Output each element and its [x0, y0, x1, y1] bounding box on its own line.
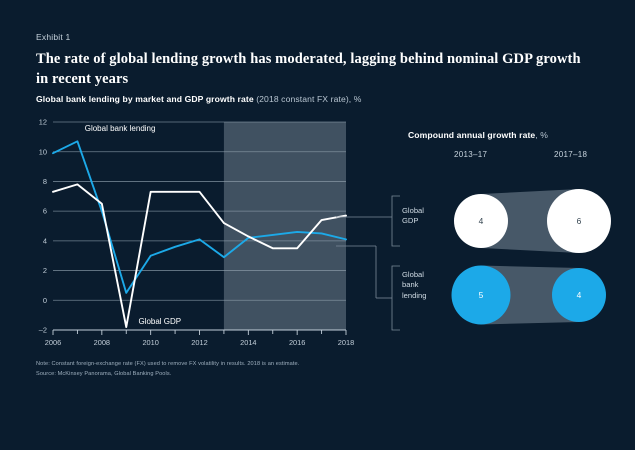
row-label-line: Global: [402, 270, 427, 280]
panel-column-header-2013-17: 2013–17: [454, 150, 487, 159]
row-label-line: lending: [402, 291, 427, 301]
row-label-line: GDP: [402, 216, 424, 226]
chart-x-axis: 2006200820102012201420162018: [45, 330, 354, 347]
bubble-value-1-1: 4: [577, 290, 582, 300]
footnote-source: Source: McKinsey Panorama, Global Bankin…: [36, 370, 456, 380]
bubble-value-1-0: 5: [479, 290, 484, 300]
x-tick-label: 2012: [191, 338, 207, 347]
chart-annotation-1: Global GDP: [138, 317, 181, 326]
exhibit-subhead: Global bank lending by market and GDP gr…: [36, 94, 596, 104]
y-tick-label: 12: [39, 118, 47, 127]
chart-annotation-0: Global bank lending: [85, 124, 156, 133]
exhibit-canvas: Exhibit 1 The rate of global lending gro…: [0, 0, 635, 450]
panel-column-header-2017-18: 2017–18: [554, 150, 587, 159]
y-tick-label: 8: [43, 177, 47, 186]
subhead-bold-text: Global bank lending by market and GDP gr…: [36, 94, 254, 104]
chart-y-axis: –2024681012: [39, 118, 47, 335]
x-tick-label: 2010: [142, 338, 158, 347]
bubble-value-0-0: 4: [479, 216, 484, 226]
y-tick-label: 10: [39, 147, 47, 156]
chart-footnotes: Note: Constant foreign-exchange rate (FX…: [36, 360, 456, 380]
bubble-value-0-1: 6: [577, 216, 582, 226]
cagr-panel: 4654 Compound annual growth rate, % 2013…: [336, 118, 635, 338]
panel-title: Compound annual growth rate, %: [408, 130, 548, 140]
y-tick-label: –2: [39, 326, 47, 335]
panel-title-light: , %: [535, 130, 548, 140]
panel-row-label-global-gdp: GlobalGDP: [402, 206, 424, 227]
row-bracket-1: [392, 266, 400, 330]
y-tick-label: 4: [43, 236, 47, 245]
x-tick-label: 2018: [338, 338, 354, 347]
y-tick-label: 6: [43, 207, 47, 216]
exhibit-headline: The rate of global lending growth has mo…: [36, 50, 596, 89]
panel-title-bold: Compound annual growth rate: [408, 130, 535, 140]
exhibit-kicker: Exhibit 1: [36, 32, 70, 42]
footnote-note: Note: Constant foreign-exchange rate (FX…: [36, 360, 456, 370]
y-tick-label: 0: [43, 296, 47, 305]
row-label-line: bank: [402, 280, 427, 290]
chart-annotations: Global bank lendingGlobal GDP: [85, 124, 181, 326]
panel-connectors: [336, 196, 400, 330]
line-chart: –2024681012 2006200820102012201420162018…: [26, 112, 371, 357]
y-tick-label: 2: [43, 266, 47, 275]
row-label-line: Global: [402, 206, 424, 216]
chart-highlight-band: [224, 122, 346, 330]
x-tick-label: 2014: [240, 338, 256, 347]
line-chart-svg: –2024681012 2006200820102012201420162018…: [26, 112, 371, 357]
panel-row-label-global-bank-lending: Globalbanklending: [402, 270, 427, 301]
highlight-band-rect: [224, 122, 346, 330]
row-bracket-0: [392, 196, 400, 246]
x-tick-label: 2008: [94, 338, 110, 347]
x-tick-label: 2016: [289, 338, 305, 347]
x-tick-label: 2006: [45, 338, 61, 347]
subhead-light-text: (2018 constant FX rate), %: [256, 94, 361, 104]
